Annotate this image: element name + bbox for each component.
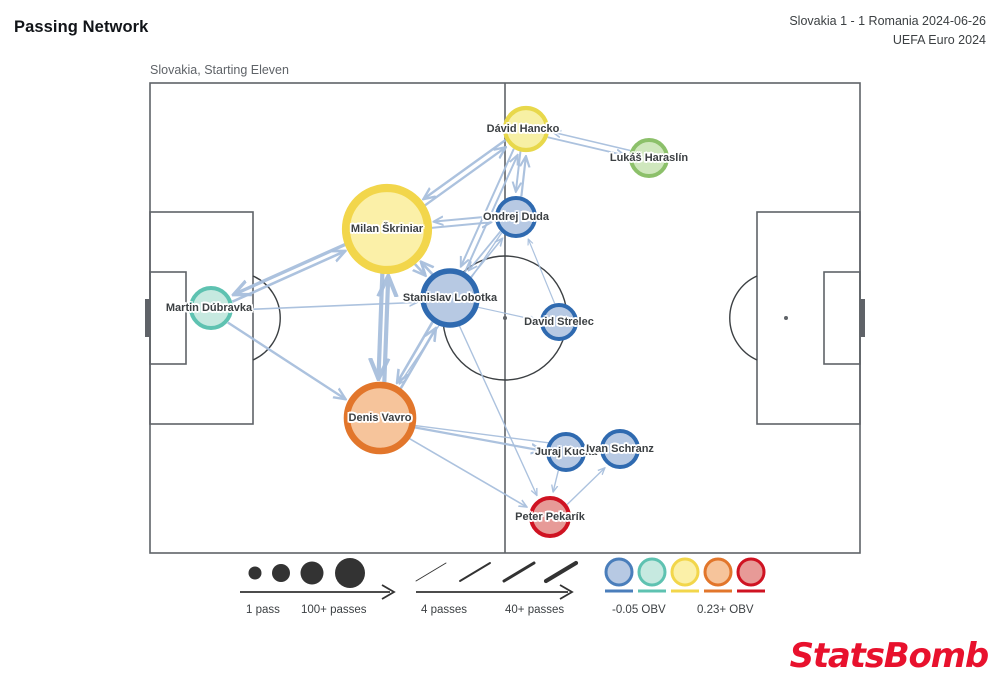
legend-width-line [460,563,490,581]
six-yard-box-right [824,272,860,364]
legend-obv-high: 0.23+ OBV [697,604,754,616]
legend-width-line [546,563,576,581]
player-node[interactable] [346,188,428,270]
player-nodes [191,108,667,536]
pass-edge [434,216,495,222]
penalty-box-right [757,212,860,424]
pass-edge [233,302,417,310]
six-yard-box-left [150,272,186,364]
legend-size-dot [272,564,290,582]
player-node-circle[interactable] [497,198,535,236]
pass-edge [409,438,527,507]
legend-width-line [504,563,534,581]
player-node-circle[interactable] [548,434,584,470]
statsbomb-logo: StatsBomb [790,636,988,676]
penalty-spot-right [784,316,788,320]
legend-width-low: 4 passes [421,604,467,616]
pass-edge [232,251,345,302]
pass-edge [423,140,505,199]
legend-obv-swatch [705,559,731,585]
player-node-circle[interactable] [531,498,569,536]
pass-edge [586,453,596,454]
legend-width-line [416,563,446,581]
pass-edge [378,272,382,379]
pass-edge [228,323,346,400]
player-node-circle[interactable] [631,140,667,176]
pass-edge [384,276,388,383]
player-node-circle[interactable] [347,385,413,451]
pass-edge [567,468,605,505]
pass-edge [528,239,554,303]
legend-obv-swatch [639,559,665,585]
legend-size-dot [335,558,365,588]
player-node[interactable] [542,305,576,339]
passing-network-page: Passing Network Slovakia 1 - 1 Romania 2… [0,0,1000,690]
legend-size-dot [301,562,324,585]
legend-size-high: 100+ passes [301,604,367,616]
player-node-circle[interactable] [423,271,477,325]
pass-edge [521,156,526,196]
player-node[interactable] [347,385,413,451]
player-node-circle[interactable] [602,431,638,467]
player-node[interactable] [531,498,569,536]
player-node[interactable] [548,434,584,470]
goal-left [145,299,150,337]
player-node[interactable] [191,288,231,328]
legend-size-low: 1 pass [246,604,280,616]
player-node-circle[interactable] [542,305,576,339]
player-node[interactable] [423,271,477,325]
pitch-markings [145,83,865,553]
legend-width-high: 40+ passes [505,604,564,616]
player-node-circle[interactable] [191,288,231,328]
legend-obv-swatch [606,559,632,585]
pass-edge [424,147,506,206]
center-spot [503,316,507,320]
legend-graphics [240,558,765,599]
player-node[interactable] [497,198,535,236]
pass-edge [553,471,558,492]
pass-edge [397,322,433,383]
player-node[interactable] [602,431,638,467]
pass-edge [233,244,346,295]
player-node[interactable] [631,140,667,176]
player-node-circle[interactable] [346,188,428,270]
pass-edge [459,326,537,496]
legend-obv-swatch [672,559,698,585]
penalty-arc-right [730,276,757,360]
legend-size-dot [249,567,262,580]
pass-edge [430,222,491,228]
legend-obv-low: -0.05 OBV [612,604,666,616]
goal-right [860,299,865,337]
passing-network-chart [0,0,1000,690]
player-node[interactable] [505,108,547,150]
player-node-circle[interactable] [505,108,547,150]
legend-obv-swatch [738,559,764,585]
